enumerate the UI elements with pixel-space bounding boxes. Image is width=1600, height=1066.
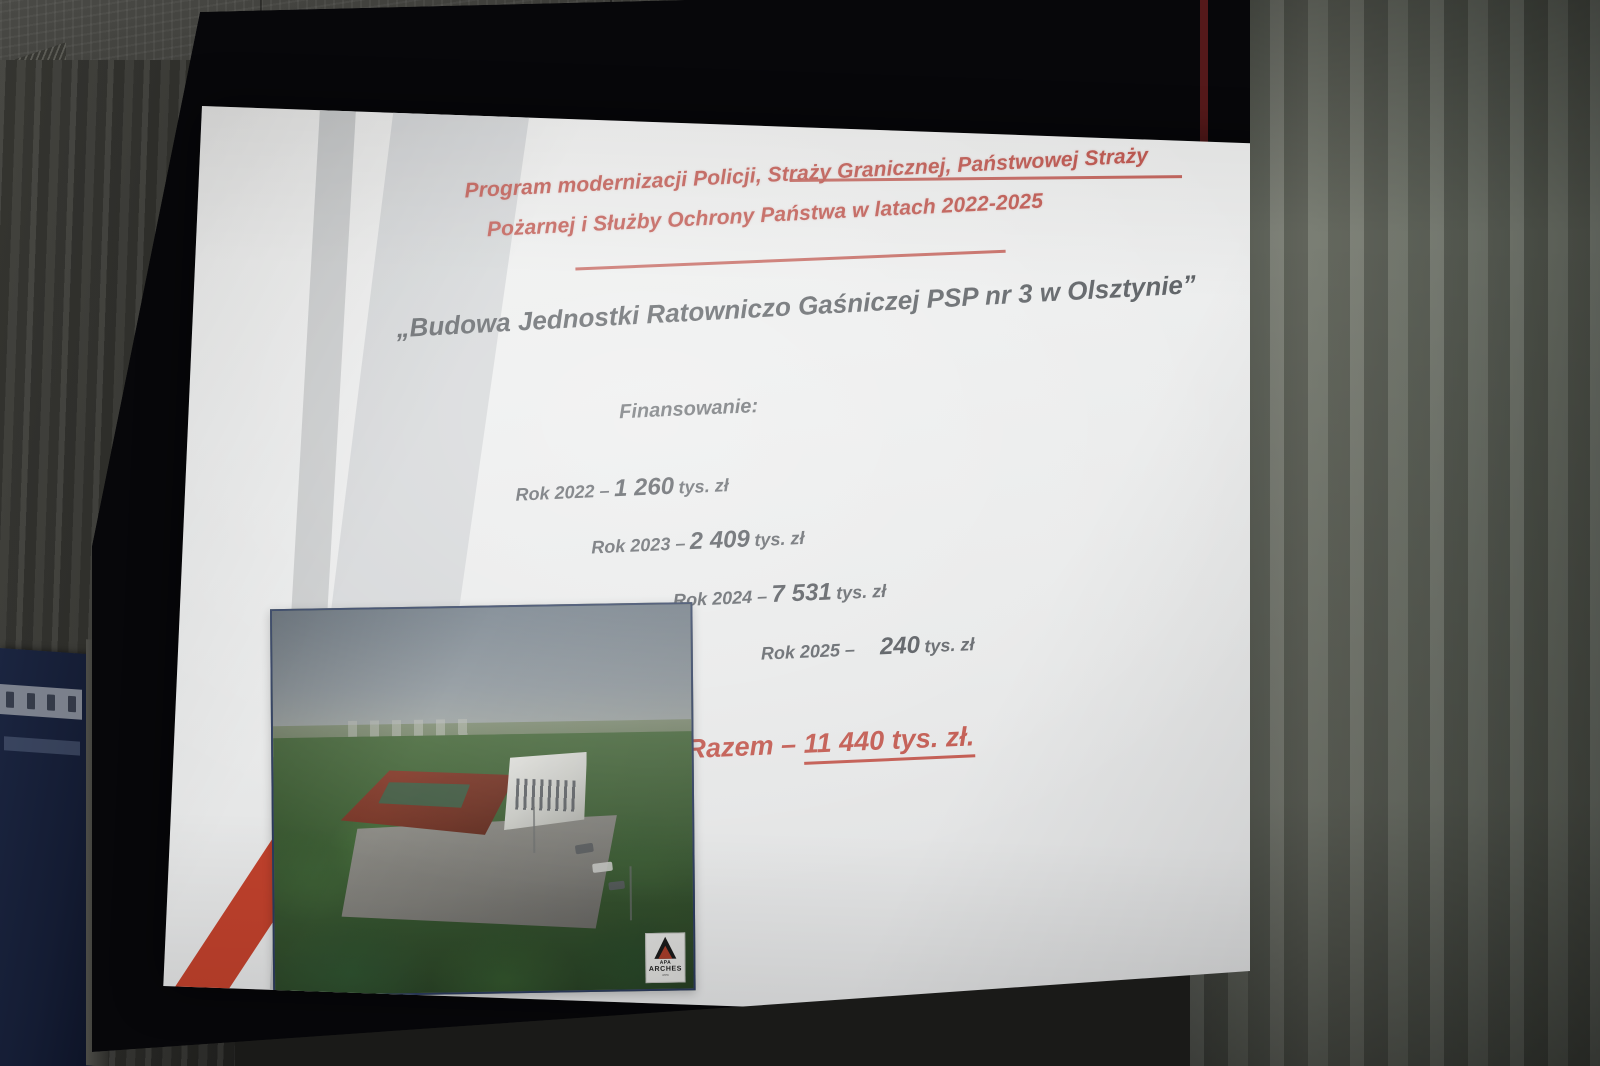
render-mast (533, 807, 535, 853)
funding-row-2022: Rok 2022 – 1 260 tys. zł (515, 470, 729, 508)
funding-unit: tys. zł (754, 528, 805, 550)
project-render-photo: APA ARCHES www (270, 602, 696, 997)
funding-year-label: Rok 2025 – (761, 639, 856, 663)
arches-a-mark-icon (654, 937, 676, 959)
funding-year-label: Rok 2023 – (591, 533, 686, 557)
render-windows (516, 778, 580, 811)
funding-amount: 2 409 (689, 525, 750, 555)
banner-pictogram-icon (47, 694, 55, 711)
slide-surface: Program modernizacji Policji, Straży Gra… (163, 106, 1292, 1025)
total-label: Razem – (686, 729, 804, 764)
header-rule-bottom (575, 250, 1005, 271)
financing-label: Finansowanie: (619, 395, 759, 424)
funding-row-2024: Rok 2024 – 7 531 tys. zł (673, 576, 887, 614)
banner-pictogram-icon (68, 696, 76, 713)
projection-screen: Program modernizacji Policji, Straży Gra… (92, 0, 1250, 1066)
banner-text-block (4, 736, 80, 755)
funding-amount: 1 260 (613, 473, 674, 503)
program-header-line-1: Program modernizacji Policji, Straży Gra… (464, 144, 1149, 203)
slide-title: „Budowa Jednostki Ratowniczo Gaśniczej P… (396, 269, 1197, 344)
funding-row-2023: Rok 2023 – 2 409 tys. zł (591, 523, 805, 561)
projected-slide: Program modernizacji Policji, Straży Gra… (163, 106, 1292, 1025)
funding-unit: tys. zł (924, 634, 975, 656)
architect-logo: APA ARCHES www (645, 932, 685, 983)
total-value: 11 440 tys. zł. (803, 721, 975, 765)
funding-unit: tys. zł (678, 475, 729, 497)
curtain-right (1190, 0, 1600, 1066)
funding-year-label: Rok 2022 – (515, 481, 610, 505)
funding-amount: 240 (879, 632, 920, 661)
roll-up-banner (0, 648, 92, 1066)
banner-pictogram-icon (27, 693, 35, 710)
logo-sub-text: www (662, 973, 669, 977)
funding-row-2025: Rok 2025 – 240 tys. zł (760, 629, 975, 667)
funding-unit: tys. zł (836, 581, 887, 603)
banner-pictogram-icon (6, 691, 14, 708)
spacer (860, 655, 876, 656)
funding-total: Razem – 11 440 tys. zł. (686, 721, 975, 765)
presentation-room-photo: Program modernizacji Policji, Straży Gra… (0, 0, 1600, 1066)
banner-icon-strip (0, 684, 82, 720)
funding-amount: 7 531 (771, 578, 832, 608)
